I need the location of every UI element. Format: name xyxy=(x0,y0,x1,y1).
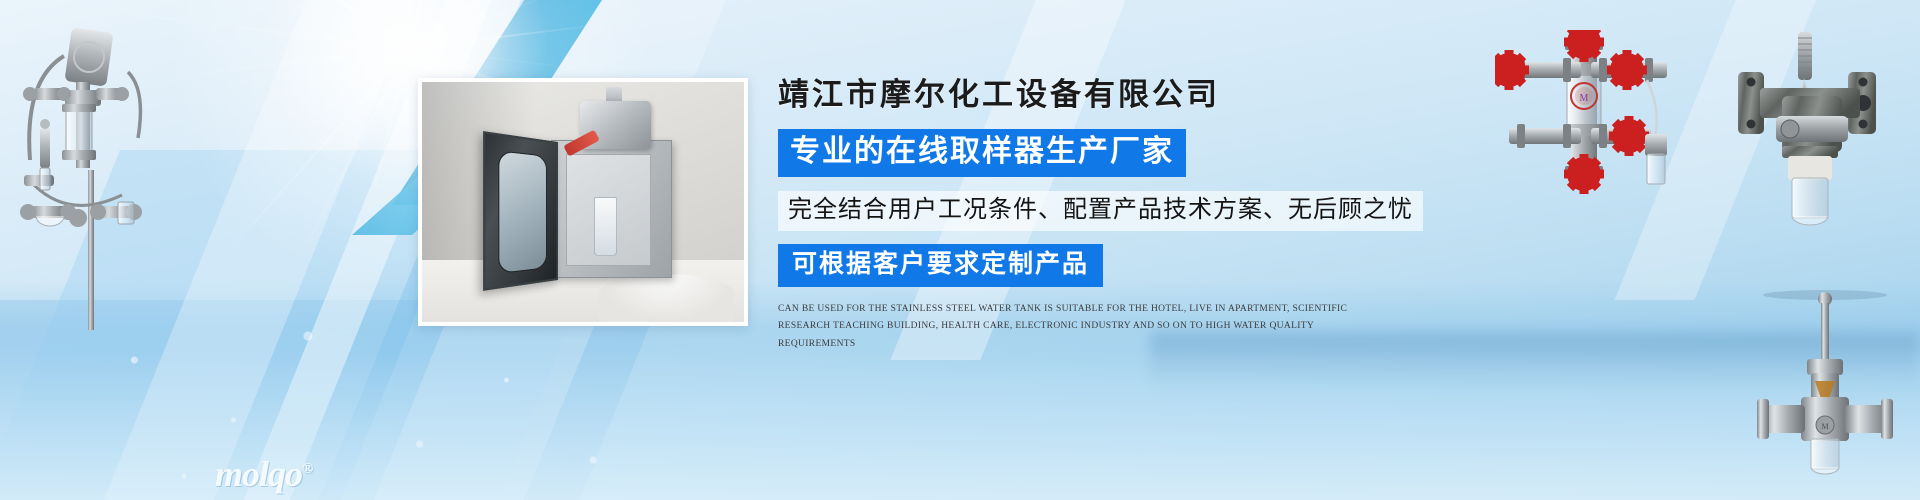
sun-ray xyxy=(207,46,409,126)
product-photo-image xyxy=(422,82,744,322)
sun-ray xyxy=(210,47,410,272)
company-name: 靖江市摩尔化工设备有限公司 xyxy=(778,76,1418,115)
sun-ray xyxy=(359,0,409,48)
sun-ray xyxy=(409,48,410,188)
sampler-on-stand-icon xyxy=(10,20,190,330)
sun-ray xyxy=(409,0,561,48)
svg-text:M: M xyxy=(1580,93,1589,104)
right-cross-valve-illustration: M xyxy=(1495,30,1685,210)
watermark-text: molqo xyxy=(215,454,302,494)
english-description: CAN BE USED FOR THE STAINLESS STEEL WATE… xyxy=(778,301,1378,354)
photo-tank xyxy=(599,274,734,322)
sun-ray xyxy=(293,47,410,266)
sun-ray xyxy=(409,23,605,49)
sun-ray xyxy=(408,0,642,50)
headline-primary: 专业的在线取样器生产厂家 xyxy=(778,129,1186,177)
photo-door-window xyxy=(498,151,547,274)
sun-ray xyxy=(408,0,486,48)
sun-ray xyxy=(275,48,409,141)
photo-cabinet-door xyxy=(483,131,558,291)
product-photo xyxy=(418,78,748,326)
flanged-lever-sampling-valve-icon xyxy=(1730,30,1890,245)
sun-ray xyxy=(408,0,544,49)
cross-manifold-sampler-icon: M xyxy=(1495,30,1685,210)
headline-secondary: 可根据客户要求定制产品 xyxy=(778,244,1103,287)
sun-ray xyxy=(237,0,409,48)
sun-ray xyxy=(361,48,411,236)
sun-ray xyxy=(409,48,657,79)
sun-ray xyxy=(216,0,411,49)
svg-text:M: M xyxy=(1821,422,1828,431)
registered-mark-icon: ® xyxy=(302,461,312,477)
right-gate-valve-illustration: M xyxy=(1755,285,1895,485)
banner-text-block: 靖江市摩尔化工设备有限公司 专业的在线取样器生产厂家 完全结合用户工况条件、配置… xyxy=(778,76,1418,353)
promo-banner: M xyxy=(0,0,1920,500)
sun-ray xyxy=(337,0,410,48)
sun-ray xyxy=(407,0,411,48)
sub-headline: 完全结合用户工况条件、配置产品技术方案、无后顾之忧 xyxy=(778,191,1423,231)
photo-sample-bottle xyxy=(594,197,618,256)
photo-cabinet xyxy=(551,140,672,279)
sun-ray xyxy=(408,0,491,48)
gate-valve-sampler-icon: M xyxy=(1755,285,1895,485)
right-lever-valve-illustration xyxy=(1730,30,1890,245)
left-equipment-illustration xyxy=(10,20,190,330)
watermark-logo: molqo® xyxy=(215,453,312,495)
sun-ray xyxy=(213,0,410,50)
photo-cabinet-interior xyxy=(566,154,651,265)
